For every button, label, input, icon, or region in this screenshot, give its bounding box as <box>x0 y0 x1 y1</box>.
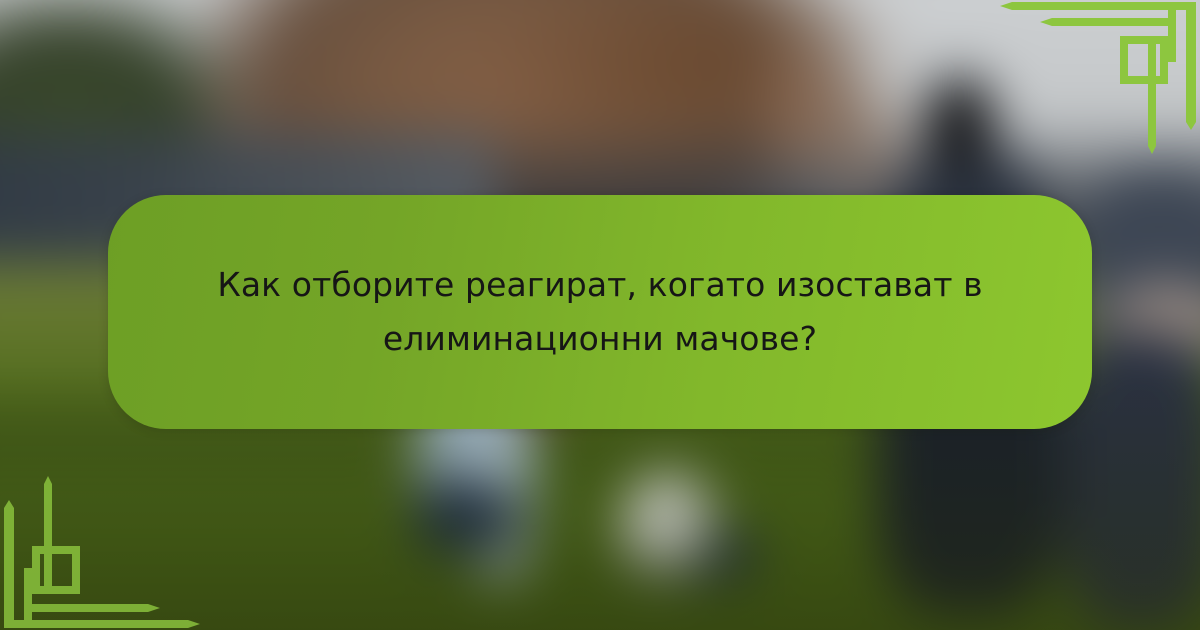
share-card-canvas: Как отборите реагират, когато изостават … <box>0 0 1200 630</box>
background-player-right-head <box>923 75 996 173</box>
soccer-ball <box>620 473 719 586</box>
question-card: Как отборите реагират, когато изостават … <box>108 195 1092 429</box>
background-player-distant-b <box>824 90 903 195</box>
question-text: Как отборите реагират, когато изостават … <box>160 258 1040 366</box>
